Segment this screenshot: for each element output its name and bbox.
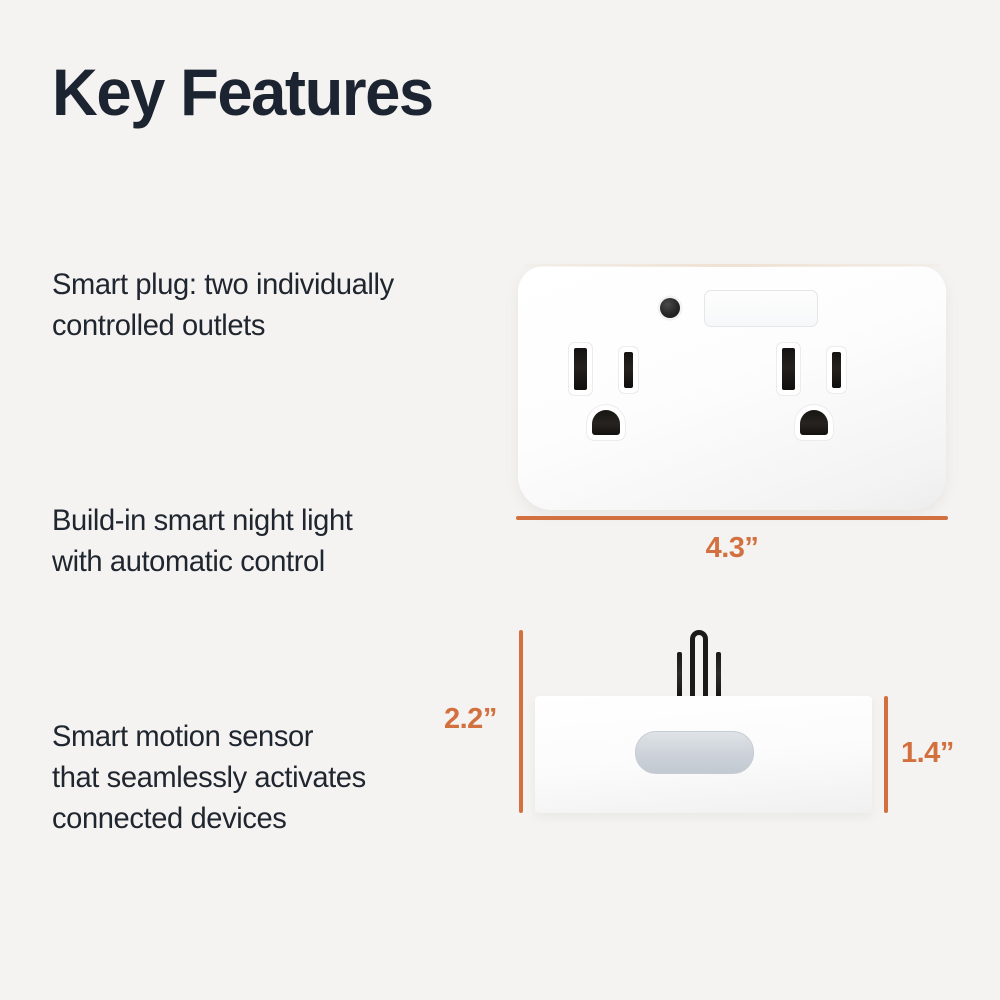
dimension-label-width: 4.3” [516,532,948,565]
power-button-icon [660,298,680,318]
feature-line: with automatic control [52,541,352,582]
plug-ground-pin-icon [690,630,708,696]
feature-text-smart-plug-outlets: Smart plug: two individually controlled … [52,264,394,346]
page-title: Key Features [52,56,433,128]
outlet-neutral-slot [782,348,795,390]
dimension-line-width [516,516,948,520]
outlet-neutral-slot [574,348,587,390]
outlet-hot-slot [832,352,841,388]
dimension-line-body-height [884,696,888,813]
plug-blade-right-icon [716,652,721,696]
feature-line: controlled outlets [52,305,394,346]
outlet-ground-hole [592,410,620,435]
smart-plug-side-view [535,696,872,813]
feature-line: connected devices [52,798,366,839]
feature-text-motion-sensor: Smart motion sensor that seamlessly acti… [52,716,366,839]
smart-plug-front-view [518,266,946,510]
feature-line: that seamlessly activates [52,757,366,798]
outlet-left [558,348,678,458]
outlet-right [766,348,886,458]
outlet-ground-hole [800,410,828,435]
feature-text-night-light: Build-in smart night light with automati… [52,500,352,582]
feature-line: Smart motion sensor [52,716,366,757]
night-light-panel [704,290,818,327]
feature-line: Build-in smart night light [52,500,352,541]
dimension-label-body-height: 1.4” [901,737,954,770]
motion-sensor-window [635,731,754,774]
dimension-line-total-height [519,630,523,813]
plug-blade-left-icon [677,652,682,696]
dimension-label-total-height: 2.2” [444,703,497,736]
feature-line: Smart plug: two individually [52,264,394,305]
outlet-hot-slot [624,352,633,388]
infographic-page: Key Features Smart plug: two individuall… [0,0,1000,1000]
